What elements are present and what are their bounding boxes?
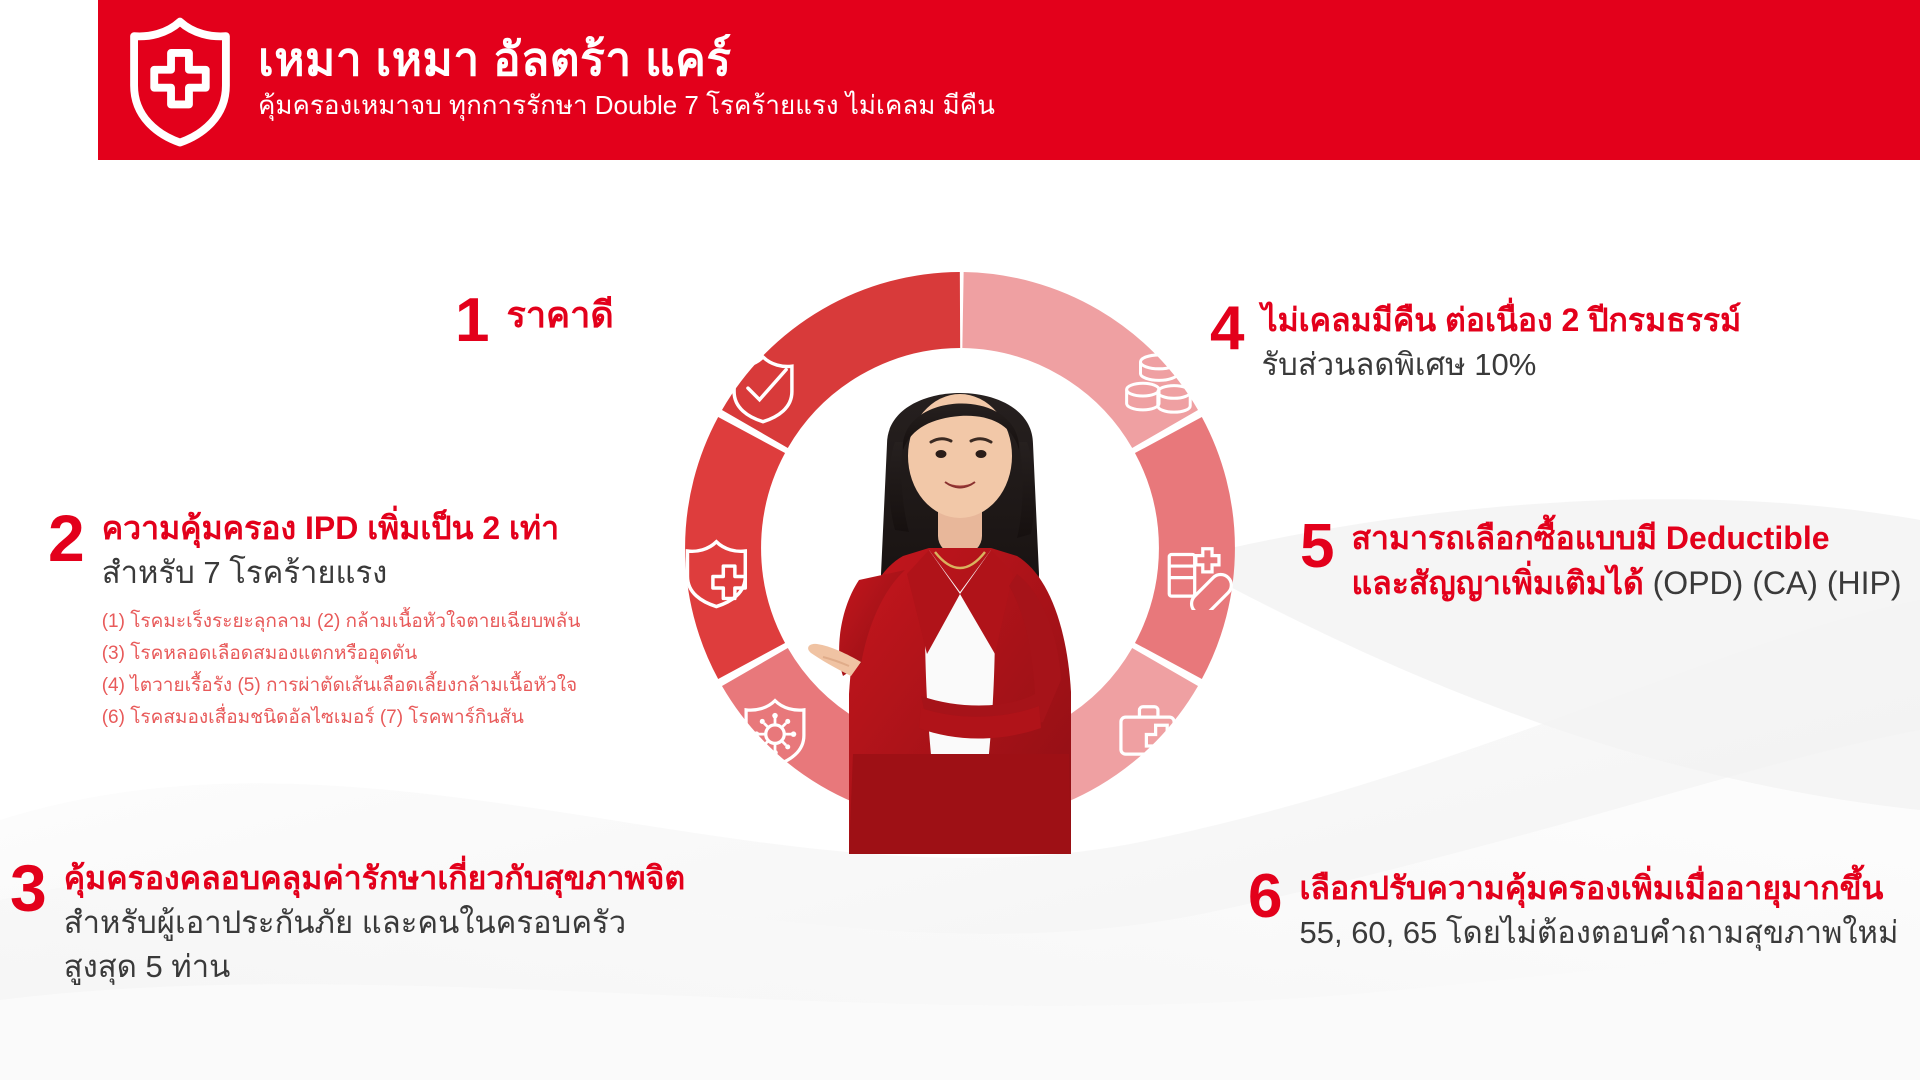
feature-item-4[interactable]: 4 ไม่เคลมมีคืน ต่อเนื่อง 2 ปีกรมธรรม์ รั… bbox=[1210, 300, 1741, 385]
feature-body: สามารถเลือกซื้อแบบมี Deductible และสัญญา… bbox=[1351, 518, 1901, 604]
feature-number: 1 bbox=[455, 292, 488, 349]
first-aid-kit-icon bbox=[1114, 694, 1188, 768]
feature-body: คุ้มครองคลอบคลุมค่ารักษาเกี่ยวกับสุขภาพจ… bbox=[64, 858, 685, 988]
feature-body: ไม่เคลมมีคืน ต่อเนื่อง 2 ปีกรมธรรม์ รับส… bbox=[1261, 300, 1741, 385]
feature-headline: ไม่เคลมมีคืน ต่อเนื่อง 2 ปีกรมธรรม์ bbox=[1261, 300, 1741, 341]
feature-note: (1) โรคมะเร็งระยะลุกลาม (2) กล้ามเนื้อหั… bbox=[102, 611, 581, 634]
feature-headline-secondary: และสัญญาเพิ่มเติมได้ (OPD) (CA) (HIP) bbox=[1351, 563, 1901, 604]
feature-subline: สูงสุด 5 ท่าน bbox=[64, 947, 685, 987]
feature-headline-plain: (OPD) (CA) (HIP) bbox=[1653, 565, 1902, 601]
page-subtitle: คุ้มครองเหมาจบ ทุกการรักษา Double 7 โรคร… bbox=[258, 91, 995, 121]
feature-body: เลือกปรับความคุ้มครองเพิ่มเมื่ออายุมากขึ… bbox=[1299, 868, 1898, 953]
feature-subline: สำหรับ 7 โรคร้ายแรง bbox=[102, 553, 581, 593]
coins-stack-icon bbox=[1122, 348, 1196, 422]
medicine-pills-icon bbox=[1160, 536, 1234, 610]
infographic-stage: 1 ราคาดี 2 ความคุ้มครอง IPD เพิ่มเป็น 2 … bbox=[0, 0, 1920, 1080]
header-text-block: เหมา เหมา อัลตร้า แคร์ คุ้มครองเหมาจบ ทุ… bbox=[258, 35, 995, 125]
feature-subline: รับส่วนลดพิเศษ 10% bbox=[1261, 345, 1741, 385]
feature-subline: สำหรับผู้เอาประกันภัย และคนในครอบครัว bbox=[64, 903, 685, 943]
feature-headline: ความคุ้มครอง IPD เพิ่มเป็น 2 เท่า bbox=[102, 508, 581, 549]
feature-body: ความคุ้มครอง IPD เพิ่มเป็น 2 เท่า สำหรับ… bbox=[102, 508, 581, 729]
shield-check-icon bbox=[726, 350, 800, 424]
feature-number: 2 bbox=[48, 508, 84, 569]
feature-headline: เลือกปรับความคุ้มครองเพิ่มเมื่ออายุมากขึ… bbox=[1299, 868, 1898, 909]
shield-medical-cross-icon bbox=[124, 16, 236, 144]
feature-note-list: (1) โรคมะเร็งระยะลุกลาม (2) กล้ามเนื้อหั… bbox=[102, 611, 581, 729]
feature-number: 4 bbox=[1210, 300, 1243, 357]
feature-item-1[interactable]: 1 ราคาดี bbox=[455, 292, 614, 349]
feature-note: (6) โรคสมองเสื่อมชนิดอัลไซเมอร์ (7) โรคพ… bbox=[102, 707, 581, 730]
feature-headline: ราคาดี bbox=[506, 292, 613, 338]
feature-headline: คุ้มครองคลอบคลุมค่ารักษาเกี่ยวกับสุขภาพจ… bbox=[64, 858, 685, 899]
feature-note: (3) โรคหลอดเลือดสมองแตกหรืออุดตัน bbox=[102, 643, 581, 666]
shield-plus-icon bbox=[684, 536, 758, 610]
page-header: เหมา เหมา อัลตร้า แคร์ คุ้มครองเหมาจบ ทุ… bbox=[98, 0, 1920, 160]
page-title: เหมา เหมา อัลตร้า แคร์ bbox=[258, 35, 995, 85]
feature-headline: สามารถเลือกซื้อแบบมี Deductible bbox=[1351, 518, 1901, 559]
feature-item-6[interactable]: 6 เลือกปรับความคุ้มครองเพิ่มเมื่ออายุมาก… bbox=[1248, 868, 1898, 953]
feature-item-5[interactable]: 5 สามารถเลือกซื้อแบบมี Deductible และสัญ… bbox=[1300, 518, 1902, 604]
feature-number: 3 bbox=[10, 858, 46, 919]
feature-note: (4) ไตวายเรื้อรัง (5) การผ่าตัดเส้นเลือด… bbox=[102, 675, 581, 698]
feature-body: ราคาดี bbox=[506, 292, 613, 338]
feature-number: 6 bbox=[1248, 868, 1281, 925]
feature-item-3[interactable]: 3 คุ้มครองคลอบคลุมค่ารักษาเกี่ยวกับสุขภา… bbox=[10, 858, 685, 988]
feature-subline: 55, 60, 65 โดยไม่ต้องตอบคำถามสุขภาพใหม่ bbox=[1299, 913, 1898, 953]
feature-number: 5 bbox=[1300, 518, 1333, 575]
feature-item-2[interactable]: 2 ความคุ้มครอง IPD เพิ่มเป็น 2 เท่า สำหร… bbox=[48, 508, 580, 729]
feature-headline-red: และสัญญาเพิ่มเติมได้ bbox=[1351, 565, 1643, 601]
avatar bbox=[795, 324, 1125, 854]
